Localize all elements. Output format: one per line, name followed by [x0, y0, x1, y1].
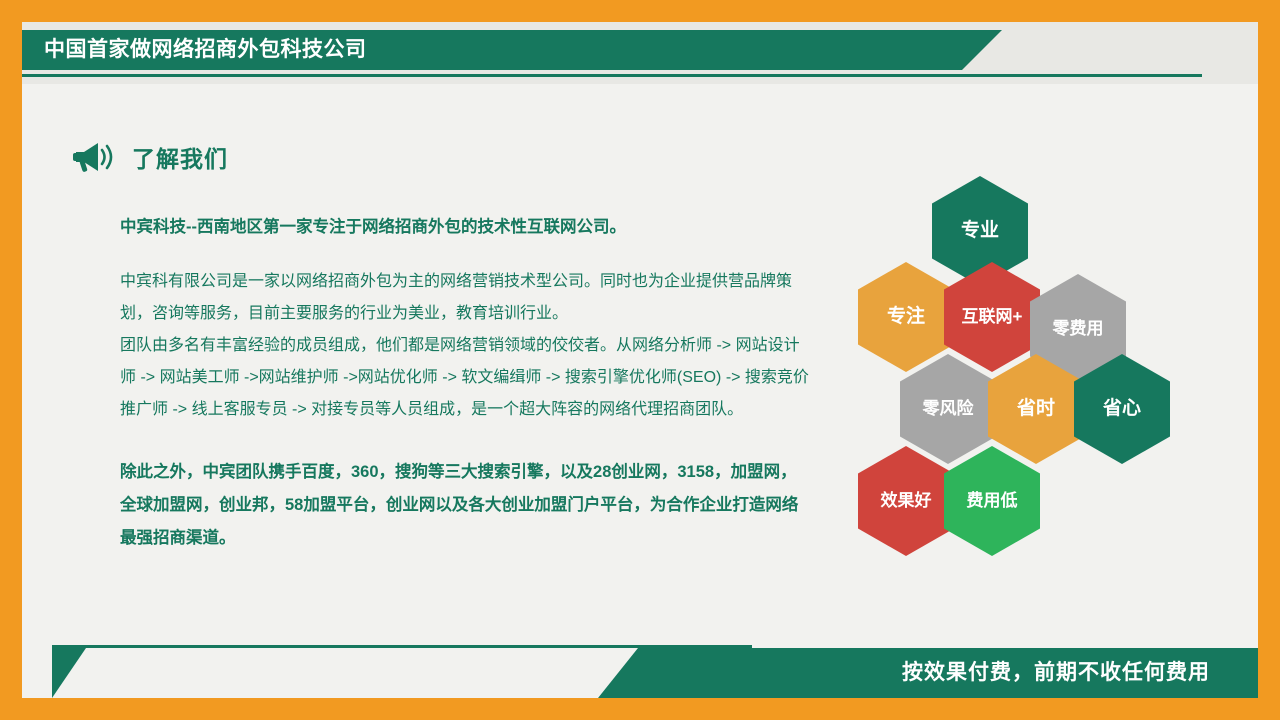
lead-paragraph: 中宾科技--西南地区第一家专注于网络招商外包的技术性互联网公司。 [120, 214, 810, 240]
hex-label: 省心 [1103, 398, 1141, 420]
slide: 中国首家做网络招商外包科技公司 了解我们 中宾科技--西南地区第一家专注于网络招… [0, 0, 1280, 720]
hex-tile-good-result: 效果好 [858, 446, 954, 556]
hex-label: 效果好 [881, 491, 932, 511]
hex-tile-zhuanzhu: 专注 [858, 262, 954, 372]
hex-tile-zero-risk: 零风险 [900, 354, 996, 464]
content-panel: 中国首家做网络招商外包科技公司 了解我们 中宾科技--西南地区第一家专注于网络招… [22, 22, 1258, 698]
footer-accent-triangle [52, 648, 86, 698]
about-text-block: 中宾科技--西南地区第一家专注于网络招商外包的技术性互联网公司。 中宾科有限公司… [120, 214, 810, 555]
hex-label: 互联网+ [962, 307, 1023, 327]
hex-label: 省时 [1017, 398, 1055, 420]
megaphone-icon [72, 140, 114, 174]
body-paragraph-2: 团队由多名有丰富经验的成员组成，他们都是网络营销领域的佼佼者。从网络分析师 ->… [120, 330, 810, 426]
hex-label: 专业 [961, 220, 999, 242]
header-underline [22, 74, 1202, 77]
section-heading: 了解我们 [72, 140, 228, 174]
hex-label: 专注 [887, 306, 925, 328]
hex-label: 费用低 [967, 491, 1018, 511]
hex-tile-internet-plus: 互联网+ [944, 262, 1040, 372]
body-paragraph-1: 中宾科有限公司是一家以网络招商外包为主的网络营销技术型公司。同时也为企业提供营品… [120, 266, 810, 330]
hexagon-cluster: 专业 专注 互联网+ 零费用 零风险 省时 省心 效果好 [832, 162, 1232, 562]
hex-label: 零费用 [1053, 319, 1104, 339]
section-title: 了解我们 [132, 140, 228, 174]
closing-paragraph: 除此之外，中宾团队携手百度，360，搜狗等三大搜索引擎，以及28创业网，3158… [120, 456, 810, 555]
hex-label: 零风险 [923, 399, 974, 419]
page-title: 中国首家做网络招商外包科技公司 [44, 30, 367, 70]
hex-tile-low-cost: 费用低 [944, 446, 1040, 556]
footer-tagline: 按效果付费，前期不收任何费用 [902, 648, 1210, 698]
footer-rule [52, 645, 752, 648]
header: 中国首家做网络招商外包科技公司 [22, 22, 1258, 84]
footer: 按效果付费，前期不收任何费用 [22, 632, 1258, 698]
